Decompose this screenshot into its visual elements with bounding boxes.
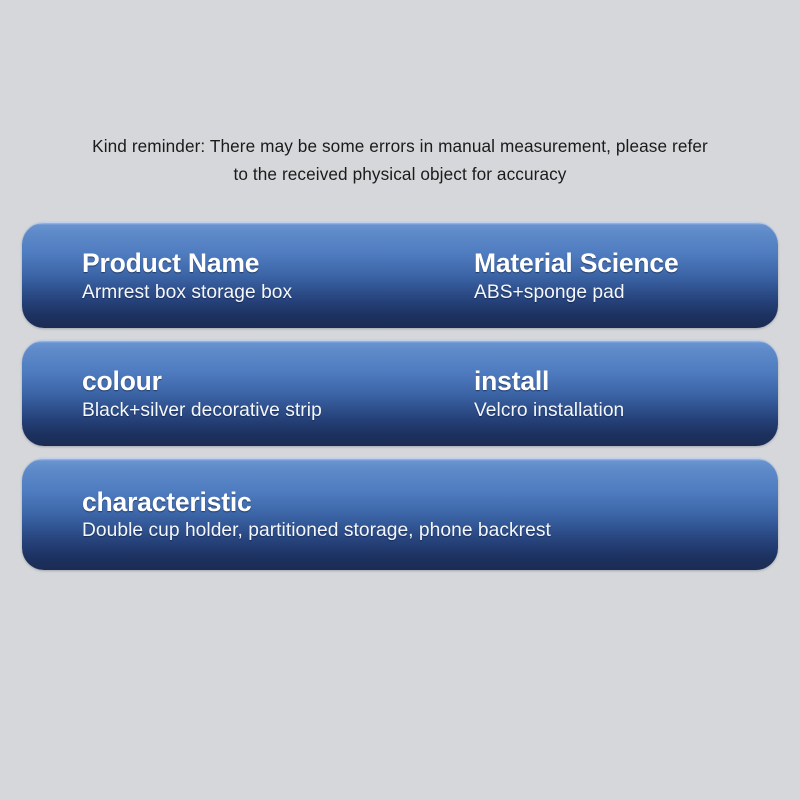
spec-value: Armrest box storage box xyxy=(82,282,474,304)
spec-card-characteristic: characteristic Double cup holder, partit… xyxy=(22,458,778,570)
spec-label: Product Name xyxy=(82,249,474,277)
spec-entry-colour: colour Black+silver decorative strip xyxy=(82,340,474,446)
measurement-notice-line-1: Kind reminder: There may be some errors … xyxy=(92,136,708,156)
spec-card-product: Product Name Armrest box storage box Mat… xyxy=(22,222,778,328)
spec-entry-characteristic: characteristic Double cup holder, partit… xyxy=(82,458,778,570)
spec-entry-material-science: Material Science ABS+sponge pad xyxy=(474,222,774,328)
product-spec-infographic: Kind reminder: There may be some errors … xyxy=(0,0,800,800)
spec-entry-product-name: Product Name Armrest box storage box xyxy=(82,222,474,328)
measurement-notice-line-2: to the received physical object for accu… xyxy=(18,160,782,188)
spec-label: characteristic xyxy=(82,488,778,516)
measurement-notice: Kind reminder: There may be some errors … xyxy=(18,132,782,188)
spec-value: Velcro installation xyxy=(474,400,774,422)
spec-card-list: Product Name Armrest box storage box Mat… xyxy=(22,222,778,570)
spec-entry-install: install Velcro installation xyxy=(474,340,774,446)
spec-value: ABS+sponge pad xyxy=(474,282,774,304)
spec-label: Material Science xyxy=(474,249,774,277)
spec-label: colour xyxy=(82,367,474,395)
spec-value: Double cup holder, partitioned storage, … xyxy=(82,520,778,542)
spec-value: Black+silver decorative strip xyxy=(82,400,474,422)
spec-label: install xyxy=(474,367,774,395)
spec-card-colour-install: colour Black+silver decorative strip ins… xyxy=(22,340,778,446)
